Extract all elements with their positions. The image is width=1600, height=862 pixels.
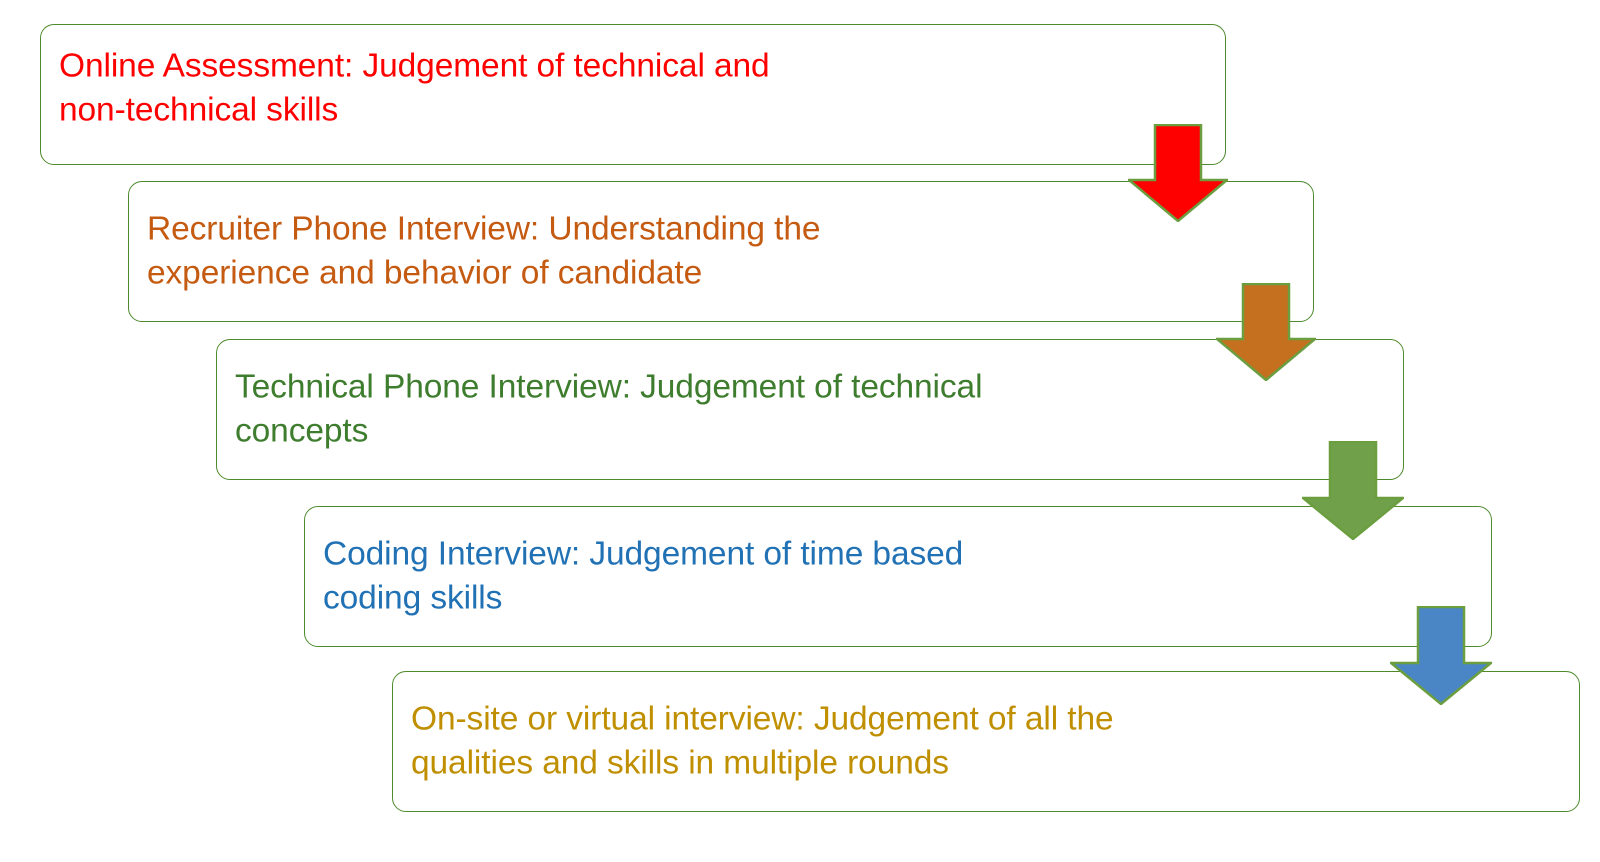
down-arrow-icon-coding-to-onsite [1390, 606, 1492, 705]
down-arrow-icon-technical-to-coding [1302, 441, 1404, 540]
arrow-shape [1303, 442, 1403, 539]
stage-label-coding-interview: Coding Interview: Judgement of time base… [323, 532, 1477, 621]
stage-label-recruiter-phone-interview: Recruiter Phone Interview: Understanding… [147, 207, 1299, 296]
stage-label-onsite-or-virtual-interview: On-site or virtual interview: Judgement … [411, 697, 1565, 786]
arrow-shape [1129, 125, 1227, 221]
arrow-shape [1391, 607, 1491, 704]
down-arrow-icon-recruiter-to-technical [1216, 283, 1316, 381]
arrow-shape [1217, 284, 1315, 380]
stage-box-online-assessment[interactable]: Online Assessment: Judgement of technica… [40, 24, 1226, 165]
process-flow-diagram: Online Assessment: Judgement of technica… [0, 0, 1600, 862]
stage-label-online-assessment: Online Assessment: Judgement of technica… [59, 44, 1211, 133]
down-arrow-icon-assessment-to-recruiter [1128, 124, 1228, 222]
